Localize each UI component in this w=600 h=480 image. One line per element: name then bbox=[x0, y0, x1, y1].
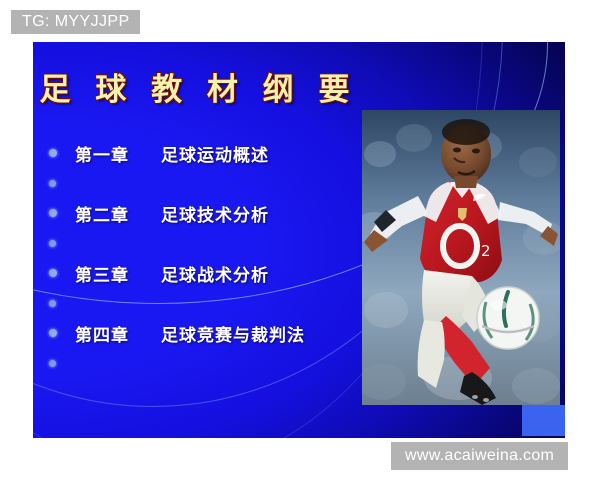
bullet-icon bbox=[49, 209, 57, 217]
bullet-icon bbox=[49, 269, 57, 277]
presentation-slide: 足 球 教 材 纲 要 第一章足球运动概述 第二章足球技术分析 bbox=[33, 42, 565, 438]
footballer-photo: 2 bbox=[362, 110, 560, 405]
slide-page: 足 球 教 材 纲 要 第一章足球运动概述 第二章足球技术分析 bbox=[0, 0, 600, 480]
bullet-icon bbox=[49, 300, 56, 307]
chapter-title: 足球竞赛与裁判法 bbox=[161, 321, 305, 346]
slide-title: 足 球 教 材 纲 要 bbox=[33, 64, 363, 109]
chapter-title: 足球运动概述 bbox=[161, 141, 269, 166]
list-item-spacer bbox=[43, 288, 373, 318]
watermark-top-left: TG: MYYJJPP bbox=[11, 10, 140, 34]
list-item-spacer bbox=[43, 228, 373, 258]
list-item[interactable]: 第三章足球战术分析 bbox=[43, 258, 373, 288]
chapter-number: 第四章 bbox=[75, 321, 161, 346]
list-item[interactable]: 第一章足球运动概述 bbox=[43, 138, 373, 168]
chapter-outline-list: 第一章足球运动概述 第二章足球技术分析 第三章足球战术分析 bbox=[43, 138, 373, 378]
bullet-icon bbox=[49, 360, 56, 367]
footballer-photo-illustration: 2 bbox=[362, 110, 560, 405]
chapter-title: 足球技术分析 bbox=[161, 201, 269, 226]
bullet-icon bbox=[49, 149, 57, 157]
chapter-title: 足球战术分析 bbox=[161, 261, 269, 286]
bullet-icon bbox=[49, 240, 56, 247]
list-item-spacer bbox=[43, 168, 373, 198]
svg-text:2: 2 bbox=[481, 242, 491, 260]
chapter-number: 第三章 bbox=[75, 261, 161, 286]
accent-block bbox=[522, 405, 565, 436]
list-item[interactable]: 第四章足球竞赛与裁判法 bbox=[43, 318, 373, 348]
watermark-bottom-right: www.acaiweina.com bbox=[391, 442, 568, 470]
chapter-number: 第一章 bbox=[75, 141, 161, 166]
bullet-icon bbox=[49, 180, 56, 187]
chapter-number: 第二章 bbox=[75, 201, 161, 226]
bullet-icon bbox=[49, 329, 57, 337]
list-item-spacer bbox=[43, 348, 373, 378]
list-item[interactable]: 第二章足球技术分析 bbox=[43, 198, 373, 228]
